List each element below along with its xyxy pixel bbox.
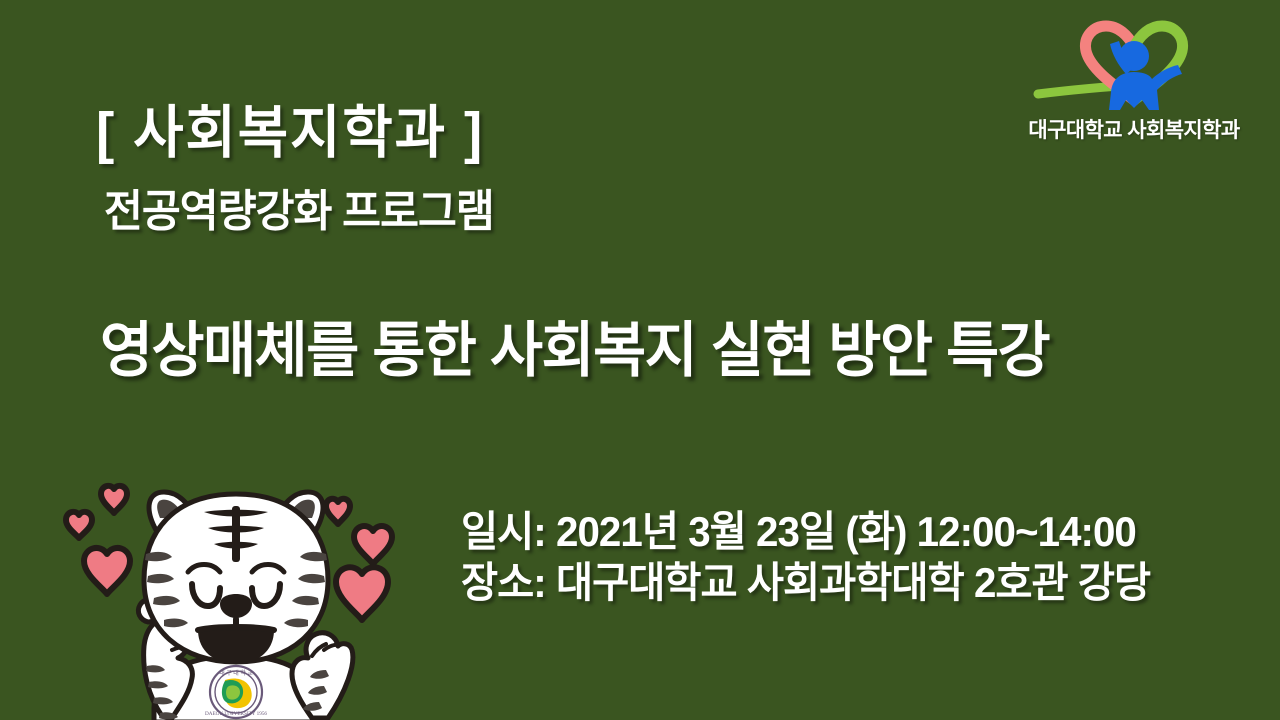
tiger-right-arm	[292, 633, 353, 718]
department-logo: 대구대학교 사회복지학과	[1008, 18, 1260, 144]
tiger-head	[144, 494, 328, 664]
poster-canvas: [ 사회복지학과 ] 전공역량강화 프로그램 영상매체를 통한 사회복지 실현 …	[0, 0, 1280, 720]
white-tiger-mascot: 대 구 대 학 교 DAEGU UNIVERSITY 1956	[36, 470, 436, 720]
lecture-headline: 영상매체를 통한 사회복지 실현 방안 특강	[100, 316, 1049, 386]
svg-text:DAEGU UNIVERSITY 1956: DAEGU UNIVERSITY 1956	[205, 711, 267, 717]
logo-caption: 대구대학교 사회복지학과	[1008, 114, 1260, 144]
heart-decoration	[66, 486, 130, 594]
event-venue-row: 장소: 대구대학교 사회과학대학 2호관 강당	[461, 557, 1150, 608]
department-title: [ 사회복지학과 ]	[96, 102, 484, 164]
event-datetime-row: 일시: 2021년 3월 23일 (화) 12:00~14:00	[461, 506, 1150, 557]
event-info-block: 일시: 2021년 3월 23일 (화) 12:00~14:00 장소: 대구대…	[461, 506, 1179, 608]
heart-decoration	[326, 499, 392, 620]
program-subtitle: 전공역량강화 프로그램	[104, 188, 494, 236]
svg-text:대 구 대 학 교: 대 구 대 학 교	[219, 669, 253, 677]
heart-person-logo-icon	[1008, 18, 1260, 113]
